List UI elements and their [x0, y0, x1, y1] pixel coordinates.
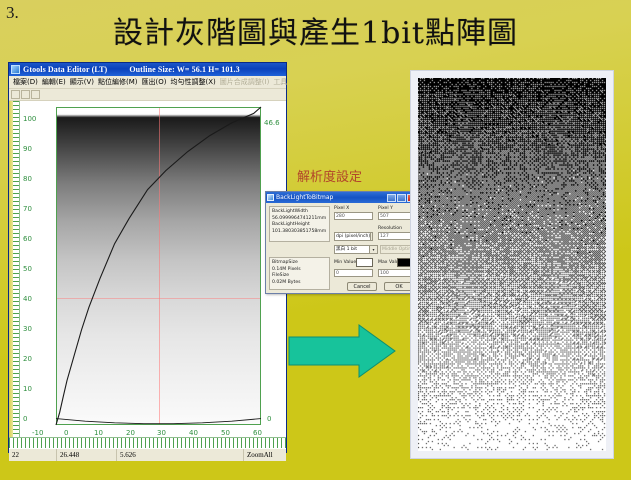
x-tick-10: 10 — [94, 429, 103, 437]
y-tick-50: 50 — [23, 265, 32, 273]
file-size-value: 0.02M Bytes — [272, 280, 327, 287]
color-mode-select[interactable]: 黑白 1 bit ▾ — [334, 245, 378, 254]
backlight-height-label: BackLightHeight — [272, 222, 327, 229]
pixel-y-label: Pixel Y — [378, 206, 393, 211]
editor-menubar[interactable]: 檔案(D) 編輯(E) 顯示(V) 點位編修(M) 匯出(O) 均勻性調整(X)… — [9, 76, 286, 89]
menu-item-export[interactable]: 匯出(O) — [140, 77, 169, 87]
y-tick-80: 80 — [23, 175, 32, 183]
color-mode-value: 黑白 1 bit — [336, 246, 357, 254]
gtools-editor-window[interactable]: Gtools Data Editor (LT) Outline Size: W=… — [8, 62, 287, 453]
y-tick-100: 100 — [23, 115, 36, 123]
x-tick-0: 0 — [64, 429, 68, 437]
x-tick-30: 30 — [157, 429, 166, 437]
status-zoom-mode: ZoomAll — [244, 449, 286, 461]
chevron-down-icon[interactable]: ▾ — [370, 233, 373, 240]
min-color-swatch[interactable] — [356, 258, 373, 267]
vertical-ruler — [9, 101, 20, 437]
pixel-y-input[interactable]: 507 — [378, 212, 414, 220]
backlight-width-label: BackLightWidth — [272, 209, 327, 216]
menu-item-point-edit[interactable]: 點位編修(M) — [96, 77, 140, 87]
min-value-label: Min Value — [334, 260, 356, 265]
y-tick-20: 20 — [23, 355, 32, 363]
menu-item-file[interactable]: 檔案(D) — [11, 77, 40, 87]
x-tick-40: 40 — [189, 429, 198, 437]
status-y-value: 5.626 — [117, 449, 244, 461]
y-tick-10: 10 — [23, 385, 32, 393]
resolution-unit-value: dpi (pixel/inch) — [336, 233, 370, 241]
bitmap-size-group: BitmapSize 0.14M Pixels FileSize 0.02M B… — [269, 257, 330, 290]
editor-titlebar[interactable]: Gtools Data Editor (LT) Outline Size: W=… — [9, 63, 286, 76]
dialog-title: BackLightToBitmap — [276, 194, 387, 201]
y-tick-0: 0 — [23, 415, 27, 423]
maximize-icon[interactable] — [397, 194, 406, 202]
editor-outline-size: Outline Size: W= 56.1 H= 101.3 — [129, 65, 239, 74]
y-tick-40: 40 — [23, 295, 32, 303]
grayscale-gradient-preview[interactable] — [56, 107, 261, 425]
menu-item-image-composite: 圖片合成調整(I) — [218, 77, 272, 87]
resolution-unit-select[interactable]: dpi (pixel/inch) ▾ — [334, 232, 373, 241]
editor-toolbar[interactable] — [9, 89, 286, 101]
x-tick-neg10: -10 — [32, 429, 43, 437]
dither-mode-select: Middle Optimum ▾ — [380, 245, 414, 254]
status-x-value: 26.448 — [57, 449, 117, 461]
bitmap-output-frame — [410, 70, 614, 459]
min-value-input[interactable]: 0 — [334, 269, 373, 277]
minimize-icon[interactable] — [387, 194, 396, 202]
file-size-label: FileSize — [272, 273, 327, 280]
annotation-resolution-setting: 解析度設定 — [297, 166, 362, 185]
chart-plot-area[interactable]: 100 90 80 70 60 50 40 30 20 10 0 46.6 0 — [9, 101, 286, 437]
dithered-bitmap-output — [418, 78, 606, 451]
page-title: 設計灰階圖與產生1bit點陣圖 — [0, 8, 631, 52]
status-point-count: 22 — [9, 449, 57, 461]
menu-item-view[interactable]: 顯示(V) — [68, 77, 96, 87]
guide-line-horizontal — [57, 298, 260, 299]
menu-item-tools: 工具 — [271, 77, 289, 87]
y-tick-90: 90 — [23, 145, 32, 153]
dialog-icon — [267, 194, 274, 201]
editor-statusbar: 22 26.448 5.626 ZoomAll — [9, 448, 286, 461]
resolution-input[interactable]: 127 — [378, 232, 414, 240]
bitmap-size-label: BitmapSize — [272, 260, 327, 267]
editor-window-title: Gtools Data Editor (LT) — [23, 65, 107, 74]
y-axis-top-value: 46.6 — [264, 119, 280, 127]
menu-item-edit[interactable]: 編輯(E) — [40, 77, 68, 87]
pixel-x-input[interactable]: 280 — [334, 212, 373, 220]
resolution-label: Resolution — [378, 226, 402, 231]
y-tick-30: 30 — [23, 325, 32, 333]
x-tick-20: 20 — [126, 429, 135, 437]
max-value-input[interactable]: 100 — [378, 269, 414, 277]
toolbar-button-1[interactable] — [11, 90, 20, 99]
app-icon — [11, 65, 20, 74]
pixel-x-label: Pixel X — [334, 206, 349, 211]
dialog-body: BackLightWidth 56.0999964741211mm BackLi… — [266, 203, 417, 295]
backlight-to-bitmap-dialog[interactable]: BackLightToBitmap BackLightWidth 56.0999… — [265, 191, 418, 294]
x-tick-50: 50 — [221, 429, 230, 437]
horizontal-ruler: -10 0 10 20 30 40 50 60 — [9, 437, 286, 448]
y-tick-70: 70 — [23, 205, 32, 213]
backlight-height-value: 101.380303851758mm — [272, 229, 327, 236]
guide-line-vertical — [159, 108, 160, 424]
toolbar-button-3[interactable] — [31, 90, 40, 99]
menu-item-uniformity[interactable]: 均勻性調整(X) — [169, 77, 218, 87]
y-tick-60: 60 — [23, 235, 32, 243]
chevron-down-icon[interactable]: ▾ — [369, 246, 377, 253]
x-tick-60: 60 — [253, 429, 262, 437]
backlight-dimensions-group: BackLightWidth 56.0999964741211mm BackLi… — [269, 206, 330, 242]
cancel-button[interactable]: Cancel — [347, 282, 377, 291]
y-axis-bottom-value: 0 — [267, 415, 271, 423]
toolbar-button-2[interactable] — [21, 90, 30, 99]
dialog-titlebar[interactable]: BackLightToBitmap — [266, 192, 417, 203]
flow-arrow-icon — [287, 323, 397, 379]
